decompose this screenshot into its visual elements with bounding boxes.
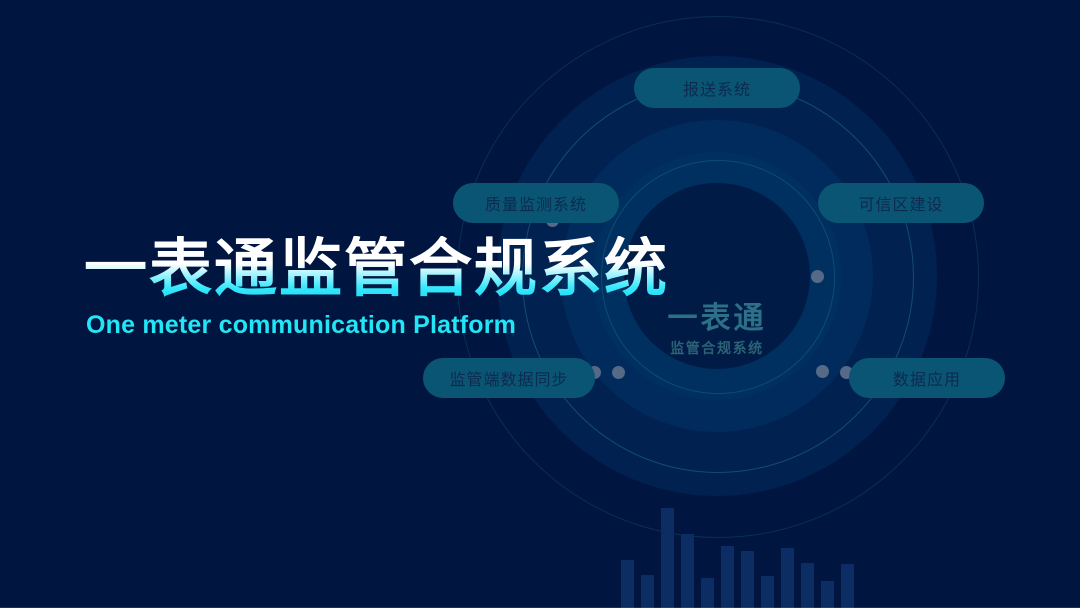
connector-dot [816,365,829,378]
bar-item [821,581,834,608]
connector-dot [612,366,625,379]
bar-item [741,551,754,608]
node-trusted-zone[interactable]: 可信区建设 [818,183,984,223]
bar-item [841,564,854,608]
bar-item [661,508,674,608]
page-title: 一表通监管合规系统 [84,236,684,302]
hub-center-subtitle: 监管合规系统 [624,338,810,358]
banner-slide: 一表通 监管合规系统 报送系统 质量监测系统 可信区建设 监管端数据同步 数据应… [0,0,1080,608]
node-regulator-data-sync[interactable]: 监管端数据同步 [423,358,595,398]
decorative-bar-chart [621,488,854,608]
page-subtitle: One meter communication Platform [86,311,684,340]
bar-item [781,548,794,608]
node-reporting-system[interactable]: 报送系统 [634,68,800,108]
bar-item [621,560,634,608]
bar-item [761,576,774,608]
bar-item [721,546,734,608]
node-data-application[interactable]: 数据应用 [849,358,1005,398]
bar-item [681,534,694,608]
bar-item [701,578,714,608]
node-quality-monitoring[interactable]: 质量监测系统 [453,183,619,223]
bar-item [801,563,814,608]
bar-item [641,575,654,608]
connector-dot [811,270,824,283]
title-block: 一表通监管合规系统 One meter communication Platfo… [84,236,684,340]
